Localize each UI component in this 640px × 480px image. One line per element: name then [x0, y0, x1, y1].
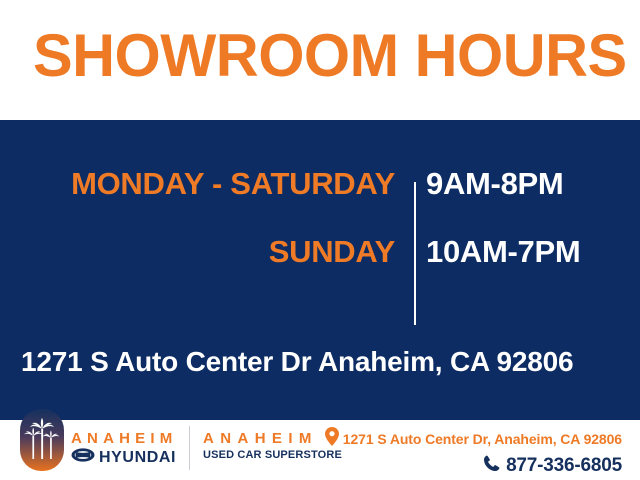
hours-time-value: 10AM-7PM — [395, 235, 580, 269]
contact-address-line: 1271 S Auto Center Dr, Anaheim, CA 92806 — [325, 427, 622, 451]
hours-days-label: MONDAY - SATURDAY — [0, 167, 395, 201]
anaheim-hyundai-logo: ANAHEIM HYUNDAI — [71, 430, 183, 467]
showroom-hours-banner: SHOWROOM HOURS MONDAY - SATURDAY 9AM-8PM… — [0, 0, 640, 480]
footer-bar: ANAHEIM HYUNDAI ANAHEIM USED CAR SUPERS — [0, 420, 640, 480]
hours-panel: MONDAY - SATURDAY 9AM-8PM SUNDAY 10AM-7P… — [0, 120, 640, 420]
hours-row: MONDAY - SATURDAY 9AM-8PM — [0, 150, 640, 218]
page-title: SHOWROOM HOURS — [33, 21, 607, 91]
hyundai-brand-row: HYUNDAI — [71, 448, 183, 467]
contact-phone-text: 877-336-6805 — [506, 455, 622, 477]
palm-tree-badge-icon — [20, 409, 64, 471]
hours-vertical-divider — [414, 182, 416, 325]
brand-city-label: ANAHEIM — [71, 430, 183, 447]
phone-handset-icon — [483, 455, 500, 477]
street-address: 1271 S Auto Center Dr Anaheim, CA 92806 — [21, 346, 621, 378]
hours-row: SUNDAY 10AM-7PM — [0, 218, 640, 286]
footer-logo-divider — [189, 426, 190, 470]
title-band: SHOWROOM HOURS — [0, 0, 640, 120]
anaheim-superstore-logo: ANAHEIM USED CAR SUPERSTORE — [203, 430, 323, 462]
contact-phone-line: 877-336-6805 — [325, 455, 622, 477]
hours-days-label: SUNDAY — [0, 235, 395, 269]
map-pin-icon — [325, 427, 339, 451]
hours-table: MONDAY - SATURDAY 9AM-8PM SUNDAY 10AM-7P… — [0, 150, 640, 286]
hyundai-h-oval-icon — [71, 448, 95, 467]
brand-tagline-label: USED CAR SUPERSTORE — [203, 448, 323, 462]
hours-time-value: 9AM-8PM — [395, 167, 563, 201]
contact-block: 1271 S Auto Center Dr, Anaheim, CA 92806… — [325, 427, 622, 477]
contact-address-text: 1271 S Auto Center Dr, Anaheim, CA 92806 — [343, 430, 622, 448]
brand-name-label: HYUNDAI — [99, 449, 176, 467]
brand-city-label: ANAHEIM — [203, 430, 323, 447]
